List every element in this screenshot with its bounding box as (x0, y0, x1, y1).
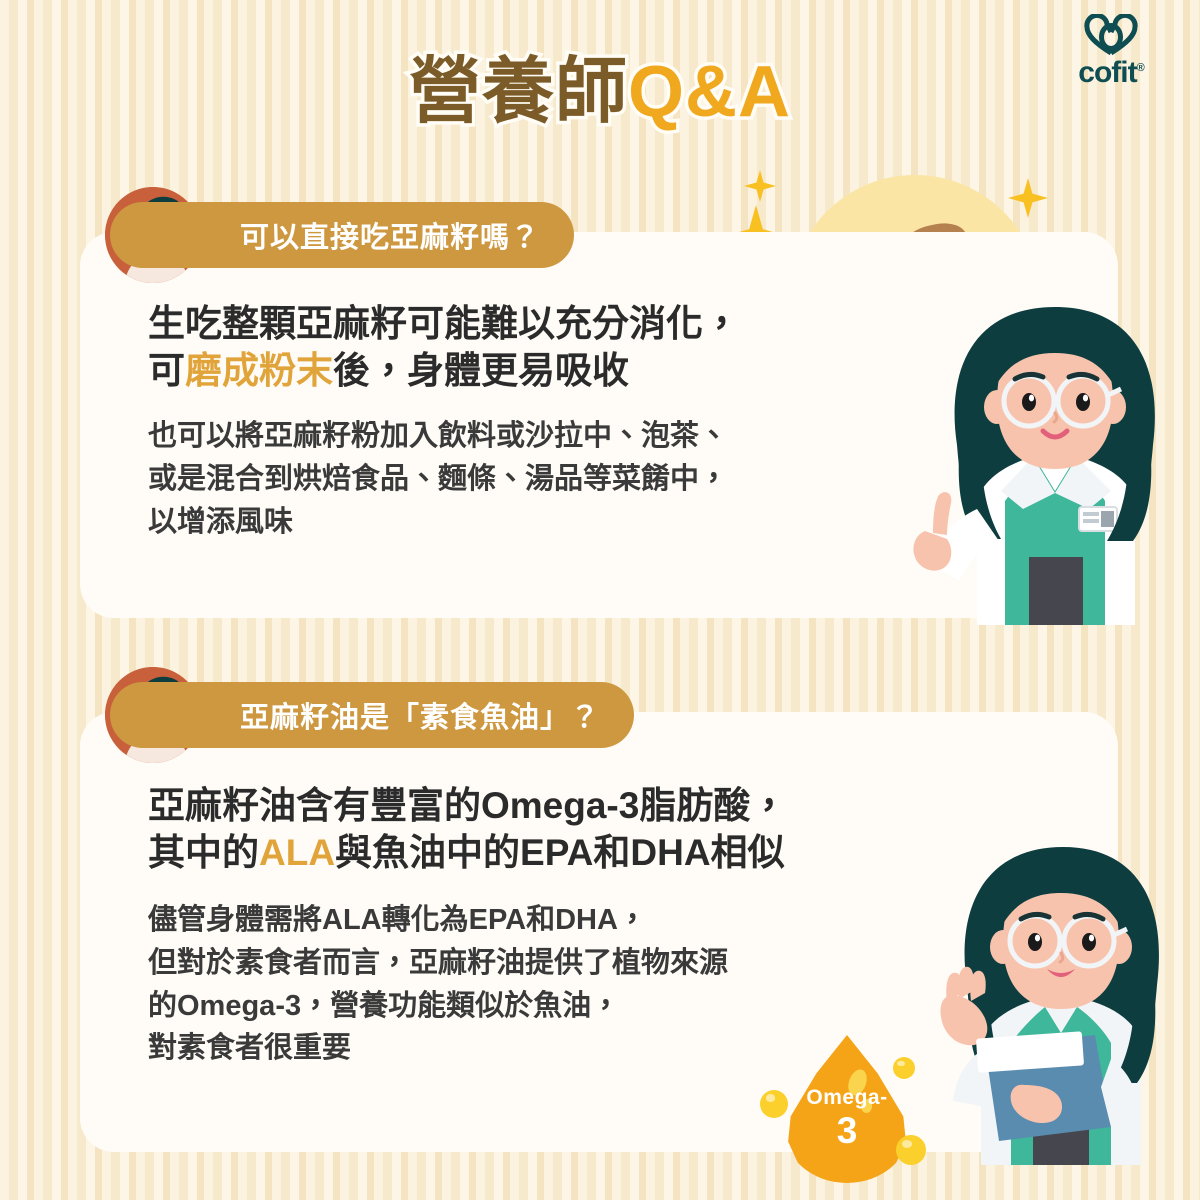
answer-heading-1-pre: 可 (148, 350, 185, 391)
omega-3-droplet: Omega- 3 (783, 1035, 911, 1183)
answer-body-2: 儘管身體需將ALA轉化為EPA和DHA， 但對於素食者而言，亞麻籽油提供了植物來… (148, 899, 787, 1071)
sparkle-icon-small-top (744, 170, 776, 202)
page-title-dark: 營養師 (409, 52, 628, 132)
answer-body-2-line-2: 但對於素食者而言，亞麻籽油提供了植物來源 (148, 942, 787, 985)
answer-body-1-line-2: 或是混合到烘焙食品、麵條、湯品等菜餚中， (148, 458, 740, 501)
answer-heading-2-line1: 亞麻籽油含有豐富的Omega-3脂肪酸， (148, 782, 787, 829)
answer-heading-1-post: 後，身體更易吸收 (333, 350, 629, 391)
answer-body-1-line-3: 以增添風味 (148, 501, 740, 544)
question-banner-1[interactable]: 可以直接吃亞麻籽嗎？ (110, 202, 574, 268)
answer-body-2-line-3: 的Omega-3，營養功能類似於魚油， (148, 985, 787, 1028)
answer-body-2-line-4: 對素食者很重要 (148, 1027, 787, 1070)
question-text-1: 可以直接吃亞麻籽嗎？ (240, 214, 540, 256)
nutritionist-pointing (905, 295, 1200, 625)
page-title-gold: Q&A (628, 52, 791, 132)
answer-body-1-line-1: 也可以將亞麻籽粉加入飲料或沙拉中、泡茶、 (148, 415, 740, 458)
answer-heading-1-line2: 可磨成粉末後，身體更易吸收 (148, 347, 740, 394)
question-banner-2[interactable]: 亞麻籽油是「素食魚油」？ (110, 682, 634, 748)
answer-heading-1-line1: 生吃整顆亞麻籽可能難以充分消化， (148, 300, 740, 347)
droplet-label-line2: 3 (837, 1112, 858, 1149)
answer-body-2-line-1: 儘管身體需將ALA轉化為EPA和DHA， (148, 899, 787, 942)
oil-bubble-left (760, 1090, 788, 1118)
answer-heading-2-line2: 其中的ALA與魚油中的EPA和DHA相似 (148, 829, 787, 876)
oil-bubble-top-right (893, 1057, 915, 1079)
answer-heading-2-post: 與魚油中的EPA和DHA相似 (335, 832, 785, 873)
page-title: 營養師Q&A (0, 56, 1200, 128)
answer-body-1: 也可以將亞麻籽粉加入飲料或沙拉中、泡茶、 或是混合到烘焙食品、麵條、湯品等菜餚中… (148, 415, 740, 544)
nutritionist-with-clipboard (915, 835, 1200, 1165)
answer-block-1: 生吃整顆亞麻籽可能難以充分消化， 可磨成粉末後，身體更易吸收 也可以將亞麻籽粉加… (148, 300, 740, 543)
answer-heading-1-highlight: 磨成粉末 (185, 350, 333, 391)
answer-heading-2-pre: 其中的 (148, 832, 259, 873)
answer-heading-2-highlight: ALA (259, 832, 335, 873)
poster-root: cofit® 營養師Q&A (0, 0, 1200, 1200)
sparkle-icon-right (1008, 178, 1048, 218)
droplet-label-line1: Omega- (806, 1087, 887, 1108)
droplet-label: Omega- 3 (783, 1035, 911, 1183)
heart-loop-icon (1083, 14, 1139, 56)
question-text-2: 亞麻籽油是「素食魚油」？ (240, 694, 600, 736)
answer-block-2: 亞麻籽油含有豐富的Omega-3脂肪酸， 其中的ALA與魚油中的EPA和DHA相… (148, 782, 787, 1070)
